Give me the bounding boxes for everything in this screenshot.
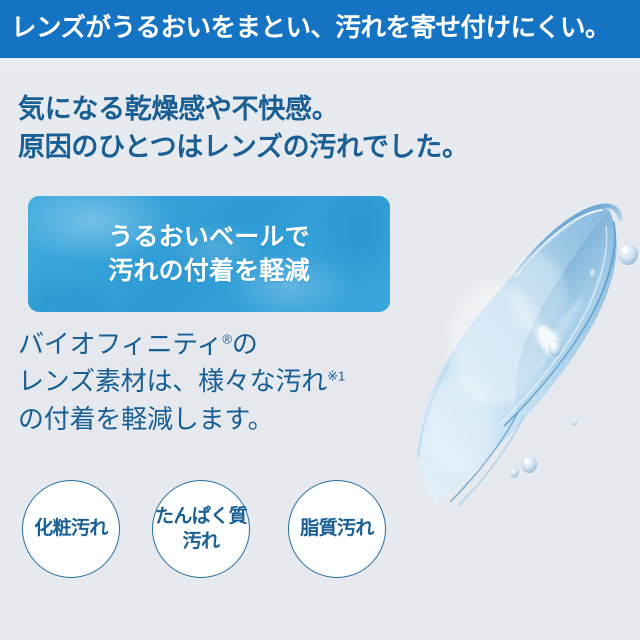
- water-droplet-5: [509, 466, 519, 477]
- lens-rim-gloss: [516, 210, 602, 276]
- registered-mark: ®: [222, 331, 232, 346]
- lens-inner-edge: [504, 222, 615, 426]
- soil-circle-makeup-line-1: 化粧汚れ: [34, 516, 108, 541]
- lens-body: [418, 209, 617, 504]
- lens-glint: [532, 322, 564, 359]
- body-copy-line-3: の付着を軽減します。: [18, 401, 345, 438]
- soil-circle-protein-line-2: 汚れ: [183, 529, 220, 554]
- water-droplet-2: [590, 269, 596, 279]
- highlight-box-line-1: うるおいベールで: [108, 220, 310, 255]
- water-droplet-group: [509, 243, 638, 478]
- headline-line-2: 原因のひとつはレンズの汚れでした。: [18, 128, 469, 166]
- water-droplet-6: [571, 419, 577, 426]
- soil-circle-protein-line-1: たんぱく質: [155, 504, 247, 529]
- soil-circle-lipid-line-1: 脂質汚れ: [300, 516, 374, 541]
- lens-tail-edge: [450, 412, 518, 502]
- top-banner: レンズがうるおいをまとい、汚れを寄せ付けにくい。: [0, 0, 640, 58]
- water-droplet-3-glint: [551, 342, 555, 347]
- water-droplet-1: [618, 243, 638, 265]
- lens-sheen-c: [426, 376, 494, 476]
- banner-headline: レンズがうるおいをまとい、汚れを寄せ付けにくい。: [11, 16, 610, 42]
- highlight-box-line-2: 汚れの付着を軽減: [108, 254, 310, 289]
- body-copy-line-2-text: レンズ素材は、様々な汚れ: [18, 366, 327, 396]
- advertisement-banner: レンズがうるおいをまとい、汚れを寄せ付けにくい。: [0, 0, 640, 640]
- water-droplet-3: [549, 340, 562, 357]
- footnote-marker: ※1: [327, 369, 345, 384]
- lens-tail-edge-soft: [458, 416, 524, 506]
- lens-inner-bowl: [515, 214, 612, 412]
- water-droplet-4: [521, 455, 537, 473]
- water-droplet-4-glint: [524, 458, 529, 464]
- soil-circle-lipid: 脂質汚れ: [288, 480, 386, 578]
- contact-lens-photo: [388, 176, 640, 506]
- water-droplet-1-glint: [622, 246, 629, 254]
- lens-sheen-a: [450, 282, 542, 406]
- product-name: バイオフィニティ: [18, 329, 222, 359]
- highlight-box: うるおいベールで 汚れの付着を軽減: [28, 196, 390, 312]
- body-copy-line-2: レンズ素材は、様々な汚れ※1: [18, 363, 345, 400]
- lens-outer-edge: [418, 222, 574, 458]
- body-copy: バイオフィニティ®の レンズ素材は、様々な汚れ※1 の付着を軽減します。: [18, 326, 345, 438]
- lens-illustration-svg: [388, 176, 640, 506]
- soil-circle-protein: たんぱく質 汚れ: [152, 480, 250, 578]
- body-copy-line-1: バイオフィニティ®の: [18, 326, 345, 363]
- headline-line-1: 気になる乾燥感や不快感。: [18, 90, 469, 128]
- lens-rim-highlight: [518, 206, 620, 272]
- body-copy-line-1-tail: の: [232, 329, 258, 359]
- soil-type-circles: 化粧汚れ たんぱく質 汚れ 脂質汚れ: [22, 480, 408, 580]
- lens-specular-streak: [534, 294, 584, 376]
- lens-inner-edge-gloss: [500, 226, 607, 424]
- headline-paragraph: 気になる乾燥感や不快感。 原因のひとつはレンズの汚れでした。: [18, 90, 469, 167]
- lens-sheen-b: [510, 254, 566, 334]
- soil-circle-makeup: 化粧汚れ: [22, 480, 120, 578]
